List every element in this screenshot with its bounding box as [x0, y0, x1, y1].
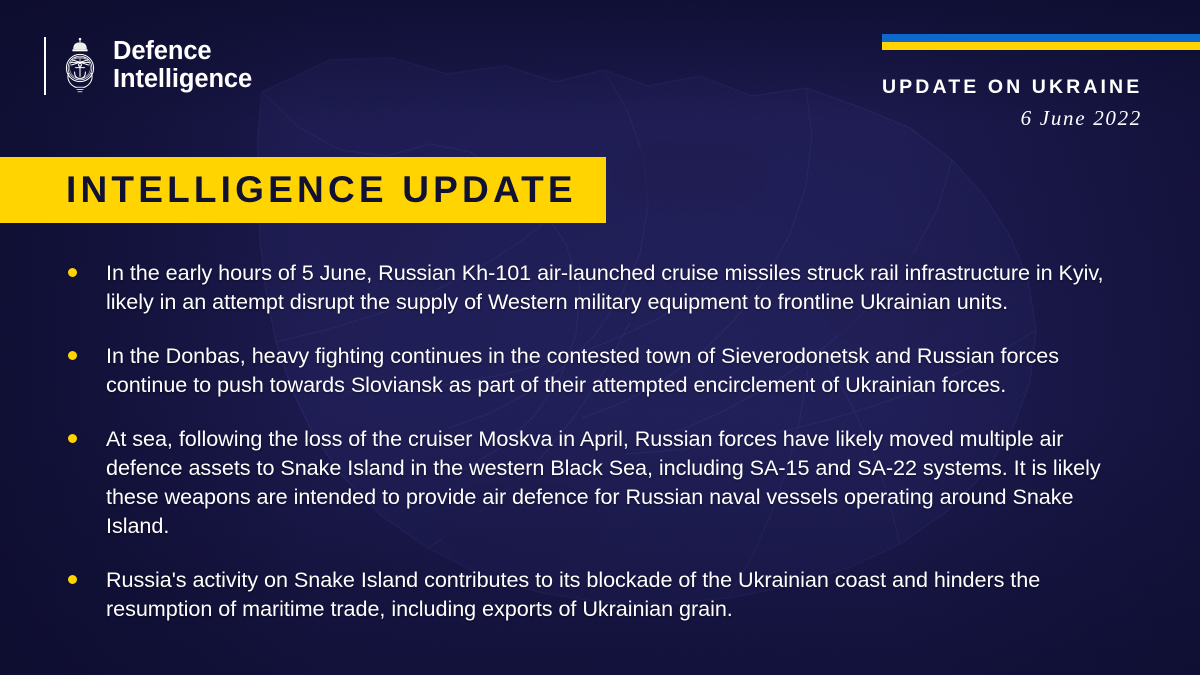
- update-title: UPDATE ON UKRAINE: [882, 76, 1200, 99]
- bullet-text: At sea, following the loss of the cruise…: [106, 424, 1122, 540]
- logo-divider-rule: [44, 37, 46, 95]
- list-item: Russia's activity on Snake Island contri…: [62, 565, 1122, 623]
- bullet-list: In the early hours of 5 June, Russian Kh…: [62, 258, 1122, 623]
- logo-wordmark: Defence Intelligence: [113, 38, 252, 93]
- bullet-dot-icon: [68, 434, 77, 443]
- bullet-dot-icon: [68, 575, 77, 584]
- bullet-text: In the early hours of 5 June, Russian Kh…: [106, 258, 1122, 316]
- flag-blue-band: [882, 34, 1200, 42]
- intelligence-update-poster: Defence Intelligence UPDATE ON UKRAINE 6…: [0, 0, 1200, 675]
- intelligence-update-banner: INTELLIGENCE UPDATE: [0, 157, 606, 223]
- flag-yellow-band: [882, 42, 1200, 50]
- list-item: In the Donbas, heavy fighting continues …: [62, 341, 1122, 399]
- bullet-dot-icon: [68, 351, 77, 360]
- bullet-text: Russia's activity on Snake Island contri…: [106, 565, 1122, 623]
- bullet-text: In the Donbas, heavy fighting continues …: [106, 341, 1122, 399]
- list-item: At sea, following the loss of the cruise…: [62, 424, 1122, 540]
- logo-wordmark-line-1: Defence: [113, 38, 252, 66]
- mod-crest-icon: [60, 37, 100, 95]
- banner-label: INTELLIGENCE UPDATE: [0, 169, 577, 211]
- bullet-dot-icon: [68, 268, 77, 277]
- logo-wordmark-line-2: Intelligence: [113, 66, 252, 94]
- list-item: In the early hours of 5 June, Russian Kh…: [62, 258, 1122, 316]
- ukraine-flag-bar-icon: [882, 34, 1200, 50]
- update-date: 6 June 2022: [882, 106, 1200, 131]
- defence-intelligence-logo: Defence Intelligence: [44, 36, 252, 96]
- header-right-block: UPDATE ON UKRAINE 6 June 2022: [882, 34, 1200, 131]
